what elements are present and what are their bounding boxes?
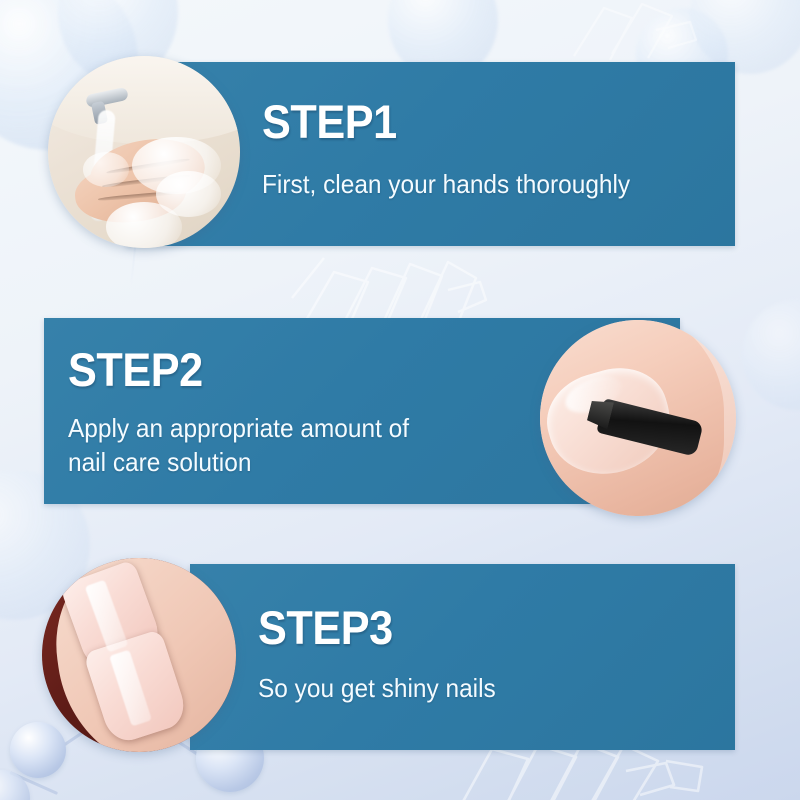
washing-hands-photo (48, 56, 240, 248)
step-3-panel (190, 564, 735, 750)
shiny-nails-photo (42, 558, 236, 752)
step-2-title: STEP2 (68, 346, 203, 393)
applying-nail-solution-photo (540, 320, 736, 516)
step-1-description: First, clean your hands thoroughly (262, 168, 630, 202)
step-1-title: STEP1 (262, 98, 397, 145)
molecule-bond (9, 771, 58, 795)
hand-outline-lineart (560, 0, 720, 62)
instruction-graphic: STEP1 First, clean your hands thoroughly… (0, 0, 800, 800)
step-3-title: STEP3 (258, 604, 393, 651)
bubble-sphere (742, 300, 800, 410)
molecule-atom (0, 770, 30, 800)
step-2-description: Apply an appropriate amount of nail care… (68, 412, 409, 480)
step-3-description: So you get shiny nails (258, 672, 496, 706)
